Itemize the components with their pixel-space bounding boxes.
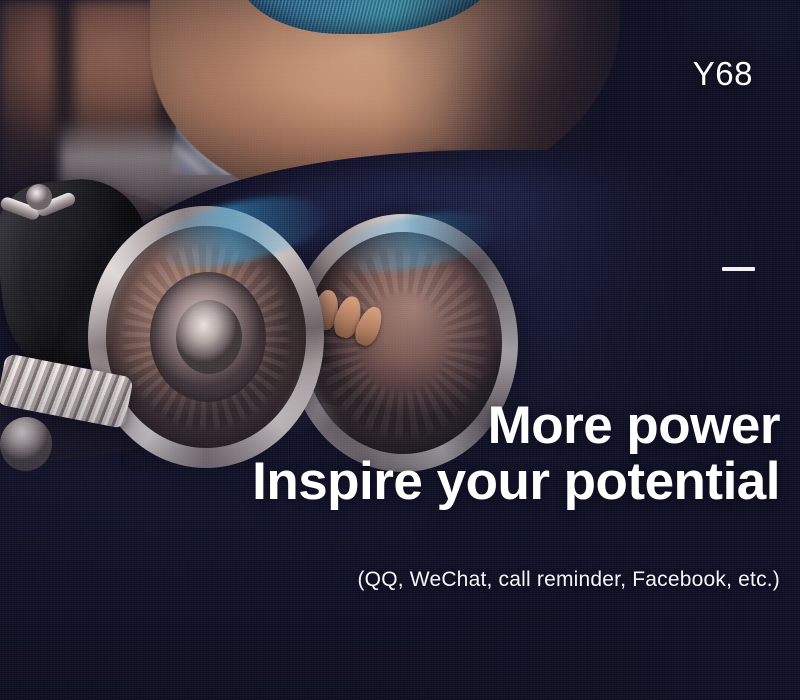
model-code-label: Y68 bbox=[693, 55, 753, 93]
film-grain-overlay bbox=[0, 0, 800, 700]
headline-line-2: Inspire your potential bbox=[0, 454, 780, 510]
headline: More power Inspire your potential bbox=[0, 398, 780, 510]
product-banner: Y68 More power Inspire your potential (Q… bbox=[0, 0, 800, 700]
subtitle-text: (QQ, WeChat, call reminder, Facebook, et… bbox=[0, 568, 780, 592]
divider-dash bbox=[722, 267, 755, 271]
headline-line-1: More power bbox=[0, 398, 780, 454]
